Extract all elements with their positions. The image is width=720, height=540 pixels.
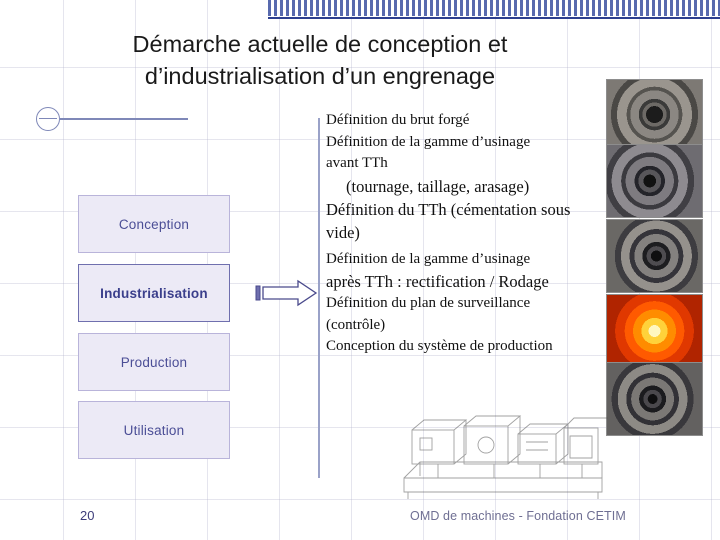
detail-line-1: Définition du brut forgé xyxy=(326,110,616,132)
gear-cut-teeth-photo xyxy=(606,219,703,293)
slide-canvas: Démarche actuelle de conception et d’ind… xyxy=(0,0,720,540)
gear-cut-teeth-image xyxy=(607,220,702,292)
top-decorative-bar xyxy=(268,0,720,16)
flow-start-icon xyxy=(36,107,60,131)
top-accent-line xyxy=(268,17,720,19)
flow-step-utilisation-label: Utilisation xyxy=(124,423,185,438)
gear-machined-image xyxy=(607,145,702,217)
flow-horizontal-connector xyxy=(60,118,188,120)
flow-step-production-label: Production xyxy=(121,355,188,370)
page-number: 20 xyxy=(80,508,94,523)
detail-line-7: Définition de la gamme d’usinage xyxy=(326,249,616,271)
flow-step-conception-label: Conception xyxy=(119,217,189,232)
gear-blank-photo xyxy=(606,79,703,153)
title-line-2: d’industrialisation d’un engrenage xyxy=(40,60,600,92)
flow-step-conception[interactable]: Conception xyxy=(78,195,230,253)
gear-finished-photo xyxy=(606,362,703,436)
detail-line-10: (contrôle) xyxy=(326,315,616,337)
detail-line-5: Définition du TTh (cémentation sous xyxy=(326,198,616,221)
flow-step-production[interactable]: Production xyxy=(78,333,230,391)
flow-vertical-connector xyxy=(318,118,320,478)
page-title: Démarche actuelle de conception et d’ind… xyxy=(40,28,600,92)
gear-blank-image xyxy=(607,80,702,152)
gear-heat-treatment-photo xyxy=(606,294,703,368)
flow-step-industrialisation-label: Industrialisation xyxy=(100,286,208,301)
details-text-block: Définition du brut forgé Définition de l… xyxy=(326,110,616,359)
gear-heat-treatment-image xyxy=(607,295,702,367)
title-line-1: Démarche actuelle de conception et xyxy=(40,28,600,60)
detail-line-4: (tournage, taillage, arasage) xyxy=(326,175,616,198)
flow-step-industrialisation[interactable]: Industrialisation xyxy=(78,264,230,322)
gear-machined-photo xyxy=(606,144,703,218)
detail-line-11: Conception du système de production xyxy=(326,336,616,358)
detail-line-3: avant TTh xyxy=(326,153,616,175)
flow-step-utilisation[interactable]: Utilisation xyxy=(78,401,230,459)
detail-line-2: Définition de la gamme d’usinage xyxy=(326,132,616,154)
detail-line-9: Définition du plan de surveillance xyxy=(326,293,616,315)
gear-finished-image xyxy=(607,363,702,435)
detail-line-6: vide) xyxy=(326,221,616,244)
footer-text: OMD de machines - Fondation CETIM xyxy=(410,509,626,523)
detail-line-8: après TTh : rectification / Rodage xyxy=(326,270,616,293)
production-line-drawing xyxy=(398,400,608,500)
right-arrow-icon xyxy=(254,279,318,307)
